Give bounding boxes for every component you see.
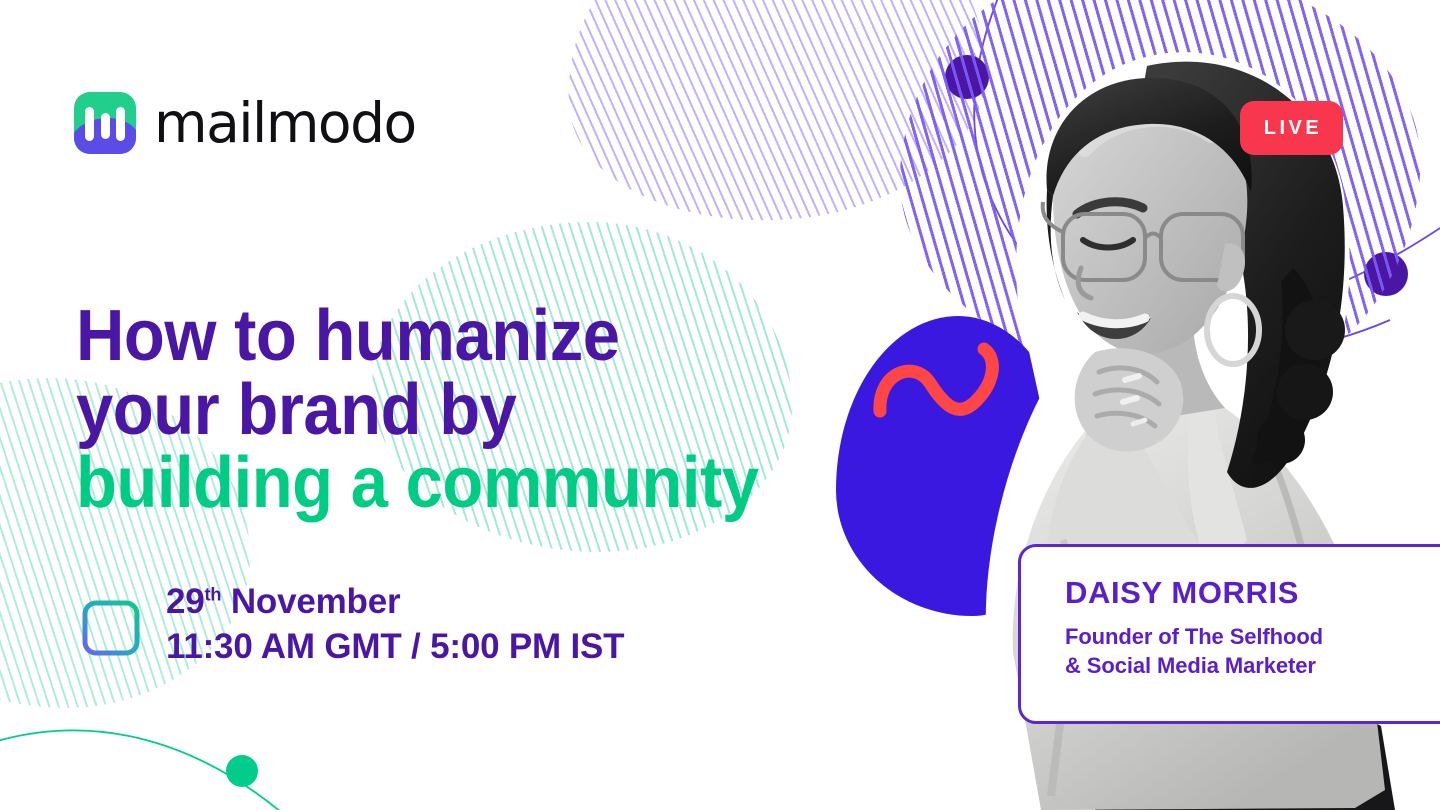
brand-name: mailmodo — [154, 96, 416, 151]
calendar-icon — [80, 592, 142, 658]
speaker-card: DAISY MORRIS Founder of The Selfhood & S… — [1018, 544, 1440, 724]
status-badge-live: LIVE — [1240, 101, 1343, 155]
speaker-title: Founder of The Selfhood & Social Media M… — [1065, 622, 1440, 680]
headline-line-3: building a community — [76, 447, 801, 520]
headline-line-2: your brand by — [76, 374, 801, 447]
live-badge-label: LIVE — [1264, 117, 1322, 140]
schedule-text: 29th November 11:30 AM GMT / 5:00 PM IST — [166, 580, 624, 670]
webinar-banner: mailmodo How to humanize your brand by b… — [0, 0, 1440, 810]
speaker-title-line-2: & Social Media Marketer — [1065, 651, 1440, 680]
mailmodo-logo-mark-icon — [74, 92, 136, 154]
page-title: How to humanize your brand by building a… — [76, 300, 801, 520]
speaker-title-line-1: Founder of The Selfhood — [1065, 622, 1440, 651]
headline-line-1: How to humanize — [76, 300, 801, 373]
green-arc-decoration — [0, 690, 380, 810]
schedule-month: November — [231, 582, 401, 621]
schedule-day-suffix: th — [205, 584, 222, 604]
schedule-block: 29th November 11:30 AM GMT / 5:00 PM IST — [80, 580, 624, 670]
speaker-name: DAISY MORRIS — [1065, 577, 1440, 608]
brand-logo[interactable]: mailmodo — [74, 92, 416, 154]
schedule-date-line: 29th November — [166, 580, 624, 625]
schedule-day: 29 — [166, 582, 205, 621]
schedule-time-line: 11:30 AM GMT / 5:00 PM IST — [166, 625, 624, 670]
